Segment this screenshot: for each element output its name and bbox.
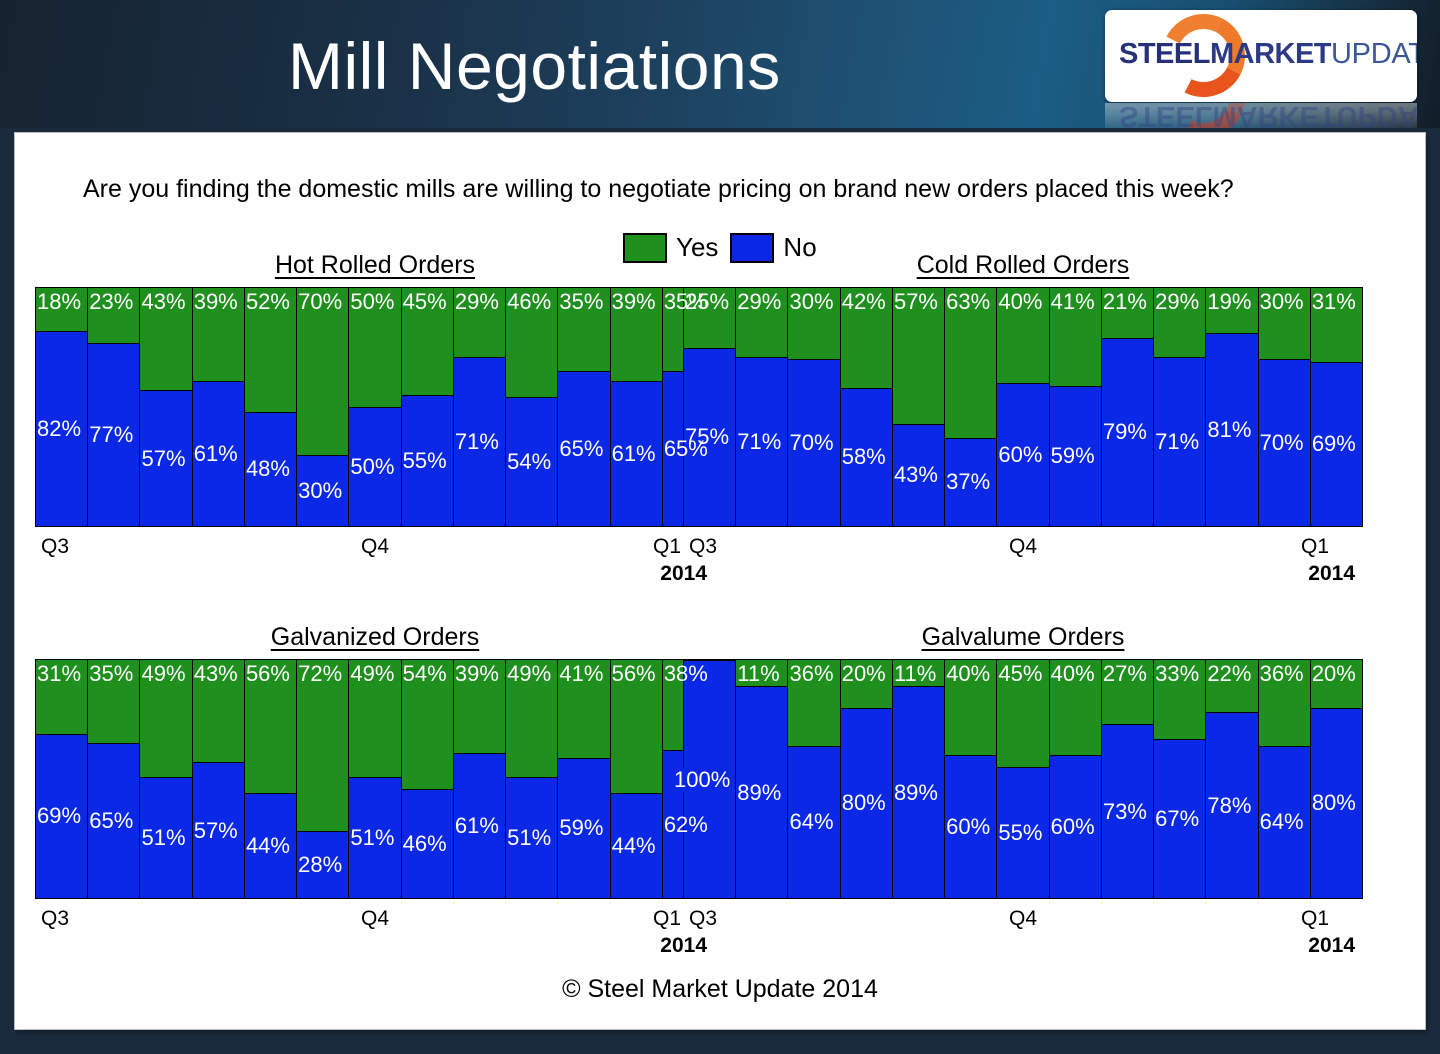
bar-label-no: 60%: [946, 815, 990, 839]
bar-label-no: 69%: [37, 804, 81, 828]
stacked-bar: 43%57%: [193, 660, 245, 898]
bar-label-no: 43%: [894, 463, 938, 487]
bar-segment-yes: 35%: [88, 660, 139, 743]
bar-label-yes: 70%: [298, 290, 342, 314]
stacked-bar: 42%58%: [841, 288, 893, 526]
bar-segment-yes: 18%: [36, 288, 87, 331]
bar-label-no: 44%: [612, 834, 656, 858]
bar-segment-yes: 49%: [506, 660, 557, 777]
bar-label-no: 57%: [194, 819, 238, 843]
bar-segment-no: 61%: [193, 381, 244, 526]
bar-segment-no: 75%: [684, 348, 735, 527]
bar-segment-no: 71%: [454, 357, 505, 526]
bar-label-yes: 43%: [141, 290, 185, 314]
bar-segment-no: 89%: [736, 686, 787, 898]
logo-word-steel: STEEL: [1119, 38, 1210, 70]
bar-segment-yes: 43%: [193, 660, 244, 762]
bar-segment-no: 58%: [841, 388, 892, 526]
bar-segment-yes: 39%: [193, 288, 244, 381]
bar-segment-yes: 11%: [736, 660, 787, 686]
axis-label-q1: Q1: [1301, 535, 1329, 559]
chart-title: Galvalume Orders: [683, 623, 1363, 652]
stacked-bar: 56%44%: [245, 660, 297, 898]
bar-segment-yes: 36%: [1259, 660, 1310, 746]
bar-label-yes: 31%: [1312, 290, 1356, 314]
stacked-bar: 31%69%: [1311, 288, 1362, 526]
x-axis-labels: Q3Q4Q12014: [35, 535, 715, 593]
bar-segment-no: 55%: [997, 767, 1048, 898]
stacked-bar: 41%59%: [558, 660, 610, 898]
bar-label-no: 78%: [1207, 794, 1251, 818]
bar-label-no: 46%: [403, 832, 447, 856]
bar-segment-yes: 39%: [454, 660, 505, 753]
bar-segment-no: 51%: [349, 777, 400, 898]
bar-label-yes: 52%: [246, 290, 290, 314]
bar-segment-no: 70%: [1259, 359, 1310, 526]
bar-label-no: 80%: [842, 791, 886, 815]
bar-segment-no: 64%: [788, 746, 839, 898]
stacked-bar: 57%43%: [893, 288, 945, 526]
bar-segment-yes: 30%: [788, 288, 839, 359]
chart-title: Galvanized Orders: [35, 623, 715, 652]
axis-label-q4: Q4: [1009, 907, 1037, 931]
bar-segment-no: 30%: [297, 455, 348, 526]
stacked-bar: 23%77%: [88, 288, 140, 526]
bar-segment-no: 82%: [36, 331, 87, 526]
bar-segment-no: 51%: [506, 777, 557, 898]
stacked-bar: 22%78%: [1206, 660, 1258, 898]
stacked-bar: 56%44%: [611, 660, 663, 898]
bar-label-no: 70%: [789, 431, 833, 455]
bar-label-yes: 23%: [89, 290, 133, 314]
bar-label-yes: 21%: [1103, 290, 1147, 314]
bar-label-no: 100%: [674, 768, 730, 792]
bar-label-yes: 39%: [455, 662, 499, 686]
bar-label-yes: 50%: [350, 290, 394, 314]
axis-label-q4: Q4: [361, 535, 389, 559]
bar-label-no: 51%: [350, 826, 394, 850]
bar-segment-yes: 30%: [1259, 288, 1310, 359]
stacked-bar: 45%55%: [402, 288, 454, 526]
bar-segment-yes: 29%: [1154, 288, 1205, 357]
axis-label-q1: Q1: [653, 907, 681, 931]
bar-segment-yes: 31%: [1311, 288, 1362, 362]
bar-label-no: 57%: [141, 447, 185, 471]
bar-label-no: 54%: [507, 450, 551, 474]
stacked-bar: 30%70%: [1259, 288, 1311, 526]
stacked-bar: 30%70%: [788, 288, 840, 526]
stacked-bar: 20%80%: [841, 660, 893, 898]
bar-label-no: 61%: [612, 442, 656, 466]
bar-label-yes: 45%: [998, 662, 1042, 686]
bar-label-no: 70%: [1260, 431, 1304, 455]
bar-segment-no: 71%: [1154, 357, 1205, 526]
bar-segment-no: 57%: [193, 762, 244, 898]
bar-segment-yes: 41%: [1050, 288, 1101, 386]
stacked-bar: 21%79%: [1102, 288, 1154, 526]
axis-label-year: 2014: [1308, 934, 1355, 958]
bar-label-yes: 72%: [298, 662, 342, 686]
bar-label-no: 64%: [789, 810, 833, 834]
bar-segment-no: 55%: [402, 395, 453, 526]
chart-title: Hot Rolled Orders: [35, 251, 715, 280]
bar-label-no: 62%: [664, 813, 708, 837]
stacked-bar: 40%60%: [997, 288, 1049, 526]
stacked-bar: 20%80%: [1311, 660, 1362, 898]
axis-label-q4: Q4: [361, 907, 389, 931]
bar-segment-yes: 19%: [1206, 288, 1257, 333]
stacked-bar: 70%30%: [297, 288, 349, 526]
stacked-bar: 46%54%: [506, 288, 558, 526]
chart-cold-rolled: Cold Rolled Orders25%75%29%71%30%70%42%5…: [683, 251, 1363, 593]
bar-label-yes: 41%: [559, 662, 603, 686]
stacked-bar: 50%50%: [349, 288, 401, 526]
bar-label-yes: 49%: [350, 662, 394, 686]
bar-label-yes: 33%: [1155, 662, 1199, 686]
axis-label-q3: Q3: [41, 535, 69, 559]
bar-label-no: 51%: [141, 826, 185, 850]
bar-label-no: 50%: [350, 455, 394, 479]
bar-segment-yes: 57%: [893, 288, 944, 424]
bar-label-no: 65%: [89, 809, 133, 833]
bar-segment-no: 73%: [1102, 724, 1153, 898]
bar-segment-no: 28%: [297, 831, 348, 898]
bar-label-no: 67%: [1155, 807, 1199, 831]
stacked-bar: 39%61%: [193, 288, 245, 526]
stacked-bar: 29%71%: [1154, 288, 1206, 526]
stacked-bar: 39%61%: [611, 288, 663, 526]
bar-label-yes: 49%: [141, 662, 185, 686]
bar-label-yes: 25%: [685, 290, 729, 314]
stacked-bar: 39%61%: [454, 660, 506, 898]
bar-segment-no: 70%: [788, 359, 839, 526]
bar-segment-yes: 56%: [245, 660, 296, 793]
bar-label-no: 60%: [1051, 815, 1095, 839]
bar-segment-yes: 45%: [997, 660, 1048, 767]
bar-label-no: 58%: [842, 445, 886, 469]
bar-segment-yes: 49%: [140, 660, 191, 777]
plot-area: 31%69%35%65%49%51%43%57%56%44%72%28%49%5…: [35, 659, 715, 899]
bar-label-yes: 20%: [1312, 662, 1356, 686]
bar-segment-yes: 11%: [893, 660, 944, 686]
axis-label-q4: Q4: [1009, 535, 1037, 559]
bar-label-no: 28%: [298, 853, 342, 877]
bar-segment-yes: 31%: [36, 660, 87, 734]
bar-label-yes: 56%: [246, 662, 290, 686]
bar-segment-no: 64%: [1259, 746, 1310, 898]
bar-label-no: 59%: [559, 816, 603, 840]
stacked-bar: 29%71%: [454, 288, 506, 526]
page-title: Mill Negotiations: [288, 25, 781, 107]
chart-hot-rolled: Hot Rolled Orders18%82%23%77%43%57%39%61…: [35, 251, 715, 593]
bar-segment-yes: 43%: [140, 288, 191, 390]
bar-label-yes: 36%: [789, 662, 833, 686]
bar-segment-yes: 70%: [297, 288, 348, 455]
bar-segment-no: 54%: [506, 397, 557, 526]
bar-label-yes: 20%: [842, 662, 886, 686]
logo-card: STEELMARKETUPDATE: [1105, 10, 1417, 102]
bar-label-yes: 63%: [946, 290, 990, 314]
bar-label-yes: 57%: [894, 290, 938, 314]
bar-segment-yes: 33%: [1154, 660, 1205, 739]
bar-segment-yes: 27%: [1102, 660, 1153, 724]
bar-segment-no: 60%: [997, 383, 1048, 526]
bar-segment-no: 77%: [88, 343, 139, 526]
plot-area: 18%82%23%77%43%57%39%61%52%48%70%30%50%5…: [35, 287, 715, 527]
bar-segment-no: 43%: [893, 424, 944, 526]
chart-galvanized: Galvanized Orders31%69%35%65%49%51%43%57…: [35, 623, 715, 965]
bar-segment-yes: 35%: [558, 288, 609, 371]
header-banner: Mill Negotiations STEELMARKETUPDATE STEE…: [0, 0, 1440, 128]
bar-label-yes: 45%: [403, 290, 447, 314]
bar-label-yes: 36%: [1260, 662, 1304, 686]
bar-segment-yes: 45%: [402, 288, 453, 395]
bar-label-no: 75%: [685, 425, 729, 449]
bar-label-no: 89%: [894, 781, 938, 805]
stacked-bar: 35%65%: [88, 660, 140, 898]
bar-segment-yes: 29%: [736, 288, 787, 357]
logo-reflection-wordmark: STEELMARKETUPDATE: [1119, 103, 1417, 128]
bar-label-no: 60%: [998, 443, 1042, 467]
bar-label-no: 44%: [246, 834, 290, 858]
bar-label-yes: 38%: [664, 662, 708, 686]
bar-segment-yes: 40%: [1050, 660, 1101, 755]
logo-word-market: MARKET: [1210, 38, 1331, 70]
bar-label-no: 73%: [1103, 800, 1147, 824]
bar-label-yes: 54%: [403, 662, 447, 686]
x-axis-labels: Q3Q4Q12014: [35, 907, 715, 965]
slide-content-panel: Are you finding the domestic mills are w…: [14, 132, 1426, 1030]
bar-segment-no: 46%: [402, 789, 453, 898]
bar-segment-no: 59%: [1050, 386, 1101, 526]
bar-label-yes: 46%: [507, 290, 551, 314]
bar-label-yes: 39%: [612, 290, 656, 314]
bar-segment-yes: 52%: [245, 288, 296, 412]
bar-label-no: 82%: [37, 417, 81, 441]
bar-label-yes: 11%: [894, 662, 936, 686]
bar-segment-yes: 20%: [841, 660, 892, 708]
stacked-bar: 31%69%: [36, 660, 88, 898]
stacked-bar: 100%: [684, 660, 736, 898]
bar-segment-yes: 22%: [1206, 660, 1257, 712]
bar-segment-no: 61%: [454, 753, 505, 898]
stacked-bar: 36%64%: [1259, 660, 1311, 898]
bar-label-yes: 11%: [737, 662, 779, 686]
bar-label-yes: 31%: [37, 662, 81, 686]
bar-segment-no: 57%: [140, 390, 191, 526]
stacked-bar: 29%71%: [736, 288, 788, 526]
bar-segment-no: 44%: [245, 793, 296, 898]
bar-label-yes: 39%: [194, 290, 238, 314]
bar-segment-yes: 36%: [788, 660, 839, 746]
bar-segment-yes: 23%: [88, 288, 139, 343]
bar-segment-no: 67%: [1154, 739, 1205, 898]
bar-label-yes: 18%: [37, 290, 81, 314]
bar-label-no: 37%: [946, 470, 990, 494]
stacked-bar: 52%48%: [245, 288, 297, 526]
bar-label-yes: 30%: [789, 290, 833, 314]
bar-segment-yes: 72%: [297, 660, 348, 831]
survey-question: Are you finding the domestic mills are w…: [83, 175, 1234, 204]
bar-segment-no: 59%: [558, 758, 609, 898]
steel-market-update-logo: STEELMARKETUPDATE: [1105, 10, 1417, 102]
copyright-footer: © Steel Market Update 2014: [15, 975, 1425, 1004]
bar-segment-yes: 56%: [611, 660, 662, 793]
bar-label-yes: 29%: [1155, 290, 1199, 314]
bar-label-no: 71%: [455, 430, 499, 454]
bar-label-yes: 41%: [1051, 290, 1095, 314]
x-axis-labels: Q3Q4Q12014: [683, 907, 1363, 965]
bar-segment-no: 81%: [1206, 333, 1257, 526]
bar-segment-yes: 20%: [1311, 660, 1362, 708]
stacked-bar: 11%89%: [736, 660, 788, 898]
bar-segment-yes: 63%: [945, 288, 996, 438]
stacked-bar: 18%82%: [36, 288, 88, 526]
bar-segment-yes: 40%: [945, 660, 996, 755]
bar-label-yes: 35%: [89, 662, 133, 686]
bar-segment-no: 51%: [140, 777, 191, 898]
bar-label-yes: 29%: [737, 290, 781, 314]
bar-segment-no: 60%: [1050, 755, 1101, 898]
bar-segment-yes: 42%: [841, 288, 892, 388]
bar-label-no: 71%: [737, 430, 781, 454]
bar-label-yes: 30%: [1260, 290, 1304, 314]
bar-label-no: 81%: [1207, 418, 1251, 442]
bar-segment-no: 50%: [349, 407, 400, 526]
bar-label-yes: 56%: [612, 662, 656, 686]
chart-title: Cold Rolled Orders: [683, 251, 1363, 280]
bar-segment-yes: 50%: [349, 288, 400, 407]
bar-segment-no: 37%: [945, 438, 996, 526]
bar-label-yes: 22%: [1207, 662, 1251, 686]
stacked-bar: 45%55%: [997, 660, 1049, 898]
bar-segment-yes: 21%: [1102, 288, 1153, 338]
bar-label-no: 69%: [1312, 432, 1356, 456]
bar-label-no: 61%: [455, 814, 499, 838]
axis-label-q1: Q1: [1301, 907, 1329, 931]
bar-label-no: 79%: [1103, 420, 1147, 444]
stacked-bar: 63%37%: [945, 288, 997, 526]
bar-segment-no: 100%: [684, 660, 735, 898]
bar-label-no: 48%: [246, 457, 290, 481]
stacked-bar: 49%51%: [506, 660, 558, 898]
bar-label-yes: 42%: [842, 290, 886, 314]
bar-label-no: 64%: [1260, 810, 1304, 834]
bar-segment-yes: 39%: [611, 288, 662, 381]
bar-label-no: 80%: [1312, 791, 1356, 815]
stacked-bar: 19%81%: [1206, 288, 1258, 526]
stacked-bar: 27%73%: [1102, 660, 1154, 898]
bar-segment-no: 48%: [245, 412, 296, 526]
bar-label-yes: 40%: [1051, 662, 1095, 686]
bar-segment-yes: 25%: [684, 288, 735, 348]
axis-label-q3: Q3: [41, 907, 69, 931]
stacked-bar: 33%67%: [1154, 660, 1206, 898]
logo-reflection: STEELMARKETUPDATE: [1105, 103, 1417, 128]
logo-wordmark: STEELMARKETUPDATE: [1119, 37, 1417, 71]
bar-label-yes: 43%: [194, 662, 238, 686]
stacked-bar: 40%60%: [1050, 660, 1102, 898]
bar-segment-yes: 40%: [997, 288, 1048, 383]
bar-segment-yes: 49%: [349, 660, 400, 777]
chart-galvalume: Galvalume Orders100%11%89%36%64%20%80%11…: [683, 623, 1363, 965]
bar-label-yes: 19%: [1207, 290, 1251, 314]
bar-label-no: 77%: [89, 423, 133, 447]
stacked-bar: 25%75%: [684, 288, 736, 526]
stacked-bar: 40%60%: [945, 660, 997, 898]
bar-label-yes: 49%: [507, 662, 551, 686]
bar-segment-yes: 29%: [454, 288, 505, 357]
bar-segment-no: 78%: [1206, 712, 1257, 898]
bar-segment-no: 65%: [558, 371, 609, 526]
bar-segment-no: 60%: [945, 755, 996, 898]
bar-label-no: 89%: [737, 781, 781, 805]
stacked-bar: 49%51%: [140, 660, 192, 898]
axis-label-q3: Q3: [689, 907, 717, 931]
bar-label-no: 59%: [1051, 444, 1095, 468]
bar-segment-no: 89%: [893, 686, 944, 898]
stacked-bar: 49%51%: [349, 660, 401, 898]
bar-label-no: 71%: [1155, 430, 1199, 454]
bar-segment-yes: 41%: [558, 660, 609, 758]
bar-segment-no: 61%: [611, 381, 662, 526]
stacked-bar: 11%89%: [893, 660, 945, 898]
logo-word-update: UPDATE: [1331, 38, 1417, 70]
bar-label-yes: 35%: [559, 290, 603, 314]
bar-label-yes: 40%: [998, 290, 1042, 314]
bar-segment-yes: 46%: [506, 288, 557, 397]
bar-label-no: 65%: [559, 437, 603, 461]
bar-segment-no: 69%: [1311, 362, 1362, 526]
plot-area: 25%75%29%71%30%70%42%58%57%43%63%37%40%6…: [683, 287, 1363, 527]
bar-segment-yes: 54%: [402, 660, 453, 789]
stacked-bar: 41%59%: [1050, 288, 1102, 526]
stacked-bar: 43%57%: [140, 288, 192, 526]
bar-label-no: 51%: [507, 826, 551, 850]
axis-label-year: 2014: [1308, 562, 1355, 586]
bar-segment-no: 80%: [841, 708, 892, 898]
bar-label-yes: 29%: [455, 290, 499, 314]
axis-label-q1: Q1: [653, 535, 681, 559]
bar-segment-no: 71%: [736, 357, 787, 526]
bar-segment-no: 44%: [611, 793, 662, 898]
bar-segment-no: 79%: [1102, 338, 1153, 526]
bar-label-yes: 27%: [1103, 662, 1147, 686]
stacked-bar: 36%64%: [788, 660, 840, 898]
stacked-bar: 35%65%: [558, 288, 610, 526]
stacked-bar: 54%46%: [402, 660, 454, 898]
bar-label-no: 30%: [298, 479, 342, 503]
bar-label-no: 55%: [403, 449, 447, 473]
bar-segment-no: 80%: [1311, 708, 1362, 898]
plot-area: 100%11%89%36%64%20%80%11%89%40%60%45%55%…: [683, 659, 1363, 899]
x-axis-labels: Q3Q4Q12014: [683, 535, 1363, 593]
stacked-bar: 72%28%: [297, 660, 349, 898]
bar-label-no: 61%: [194, 442, 238, 466]
bar-segment-no: 65%: [88, 743, 139, 898]
axis-label-q3: Q3: [689, 535, 717, 559]
bar-label-yes: 40%: [946, 662, 990, 686]
bar-segment-no: 69%: [36, 734, 87, 898]
bar-label-no: 55%: [998, 821, 1042, 845]
